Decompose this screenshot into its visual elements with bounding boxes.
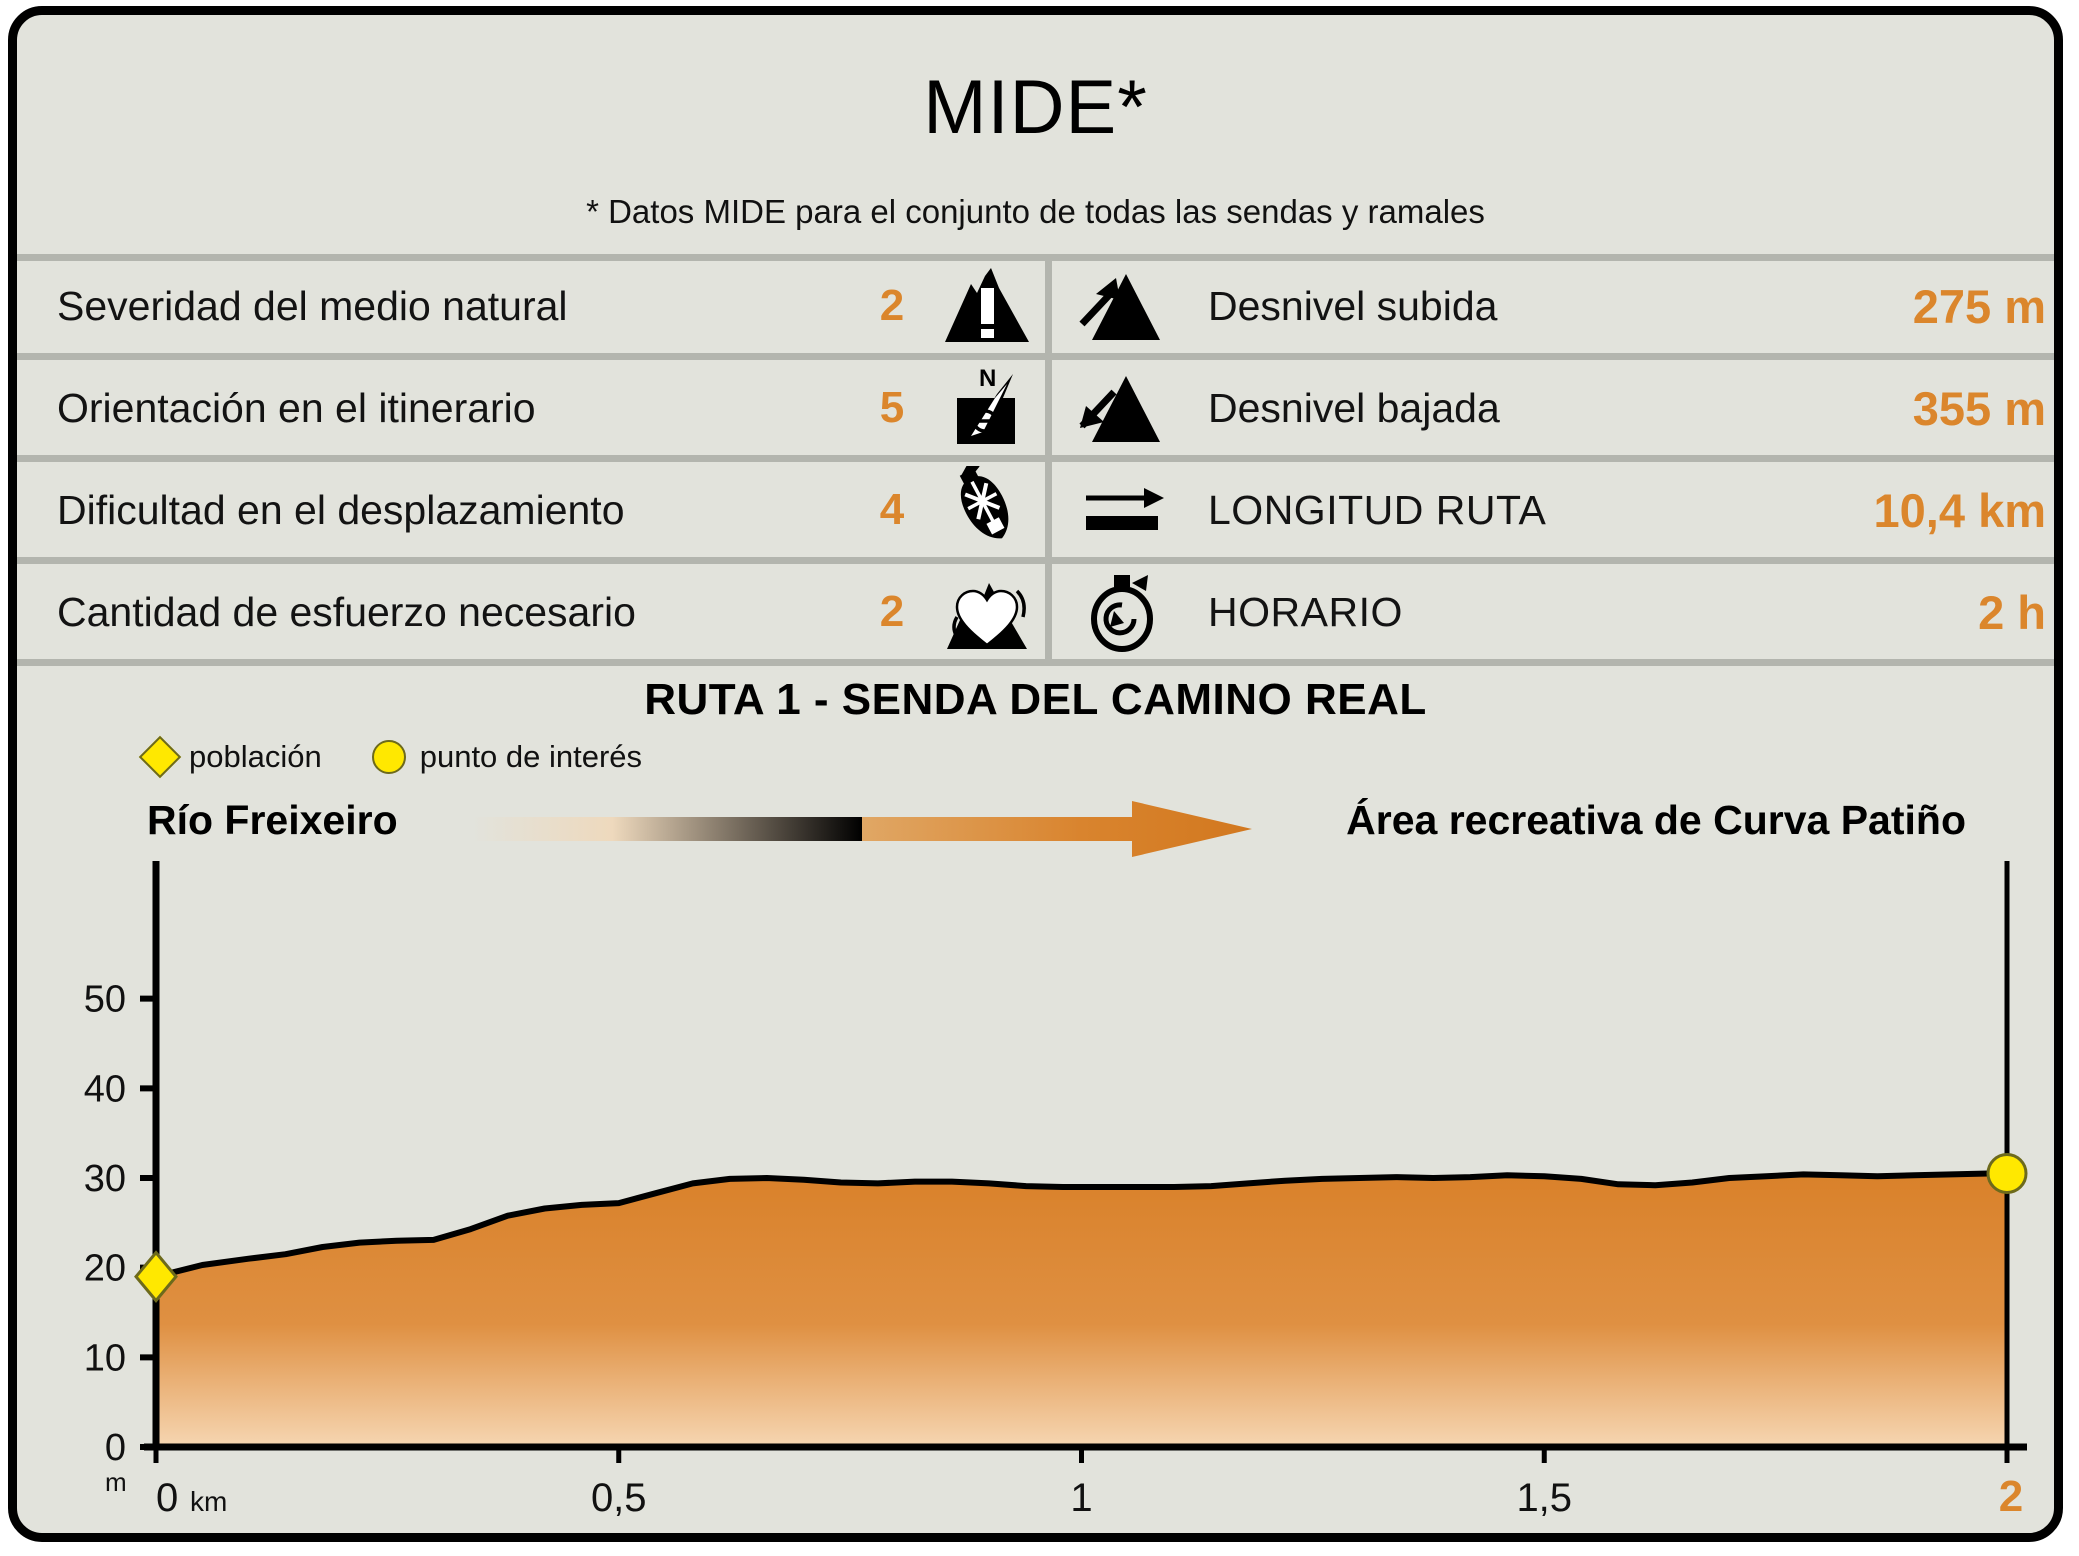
- card-header: MIDE* * Datos MIDE para el conjunto de t…: [17, 15, 2054, 254]
- boot-sole-icon: [935, 466, 1039, 554]
- mide-value: 2 h: [1978, 585, 2060, 640]
- mide-row-desnivel-subida: Desnivel subida 275 m: [1060, 258, 2060, 354]
- mide-row-dificultad: Dificultad en el desplazamiento 4: [31, 462, 1039, 558]
- heart-mountain-icon: [935, 571, 1039, 653]
- route-endpoints: Río Freixeiro Área recreativa de Curva P…: [17, 797, 2054, 861]
- route-start-label: Río Freixeiro: [147, 797, 398, 844]
- mide-label: LONGITUD RUTA: [1188, 487, 1874, 534]
- mide-row-severidad: Severidad del medio natural 2: [31, 258, 1039, 354]
- mide-row-horario: HORARIO 2 h: [1060, 564, 2060, 660]
- mide-label: Severidad del medio natural: [31, 283, 849, 330]
- svg-text:20: 20: [84, 1248, 126, 1290]
- distance-arrow-icon: [1060, 480, 1188, 540]
- svg-text:km: km: [190, 1486, 227, 1517]
- grid-divider: [17, 557, 2054, 564]
- mide-data-grid: Severidad del medio natural 2 Orientació…: [17, 254, 2054, 666]
- svg-text:10: 10: [84, 1337, 126, 1379]
- page-subtitle: * Datos MIDE para el conjunto de todas l…: [17, 193, 2054, 231]
- mide-value: 2: [849, 587, 935, 637]
- mide-row-longitud: LONGITUD RUTA 10,4 km: [1060, 462, 2060, 558]
- mide-value: 5: [849, 383, 935, 433]
- svg-text:1: 1: [1070, 1476, 1092, 1520]
- chart-legend: población punto de interés: [145, 739, 642, 775]
- svg-text:0: 0: [156, 1476, 178, 1520]
- compass-icon: N: [935, 364, 1039, 452]
- mountain-down-icon: [1060, 370, 1188, 446]
- mide-value: 355 m: [1913, 381, 2060, 436]
- mide-value: 10,4 km: [1874, 483, 2060, 538]
- svg-text:0,5: 0,5: [591, 1476, 647, 1520]
- svg-text:40: 40: [84, 1068, 126, 1110]
- diamond-marker-icon: [139, 736, 181, 778]
- page-title: MIDE*: [17, 67, 2054, 149]
- mide-value: 4: [849, 485, 935, 535]
- mide-value: 275 m: [1913, 279, 2060, 334]
- mide-label: HORARIO: [1188, 589, 1978, 636]
- route-end-label: Área recreativa de Curva Patiño: [1346, 797, 1966, 844]
- svg-text:30: 30: [84, 1158, 126, 1200]
- mide-info-card: MIDE* * Datos MIDE para el conjunto de t…: [8, 6, 2063, 1542]
- mide-label: Orientación en el itinerario: [31, 385, 849, 432]
- mide-row-orientacion: Orientación en el itinerario 5 N: [31, 360, 1039, 456]
- mide-label: Desnivel bajada: [1188, 385, 1913, 432]
- legend-label-punto-interes: punto de interés: [420, 739, 642, 775]
- mide-label: Dificultad en el desplazamiento: [31, 487, 849, 534]
- plot-area: 010203040500km0,511,52: [84, 861, 2027, 1521]
- svg-text:N: N: [979, 365, 996, 392]
- legend-label-poblacion: población: [189, 739, 322, 775]
- grid-divider: [17, 455, 2054, 462]
- route-title: RUTA 1 - SENDA DEL CAMINO REAL: [17, 675, 2054, 725]
- mide-row-esfuerzo: Cantidad de esfuerzo necesario 2: [31, 564, 1039, 660]
- grid-divider: [17, 659, 2054, 666]
- mide-label: Desnivel subida: [1188, 283, 1913, 330]
- circle-marker-icon: [372, 740, 406, 774]
- grid-divider: [17, 353, 2054, 360]
- mountain-up-icon: [1060, 268, 1188, 344]
- mide-label: Cantidad de esfuerzo necesario: [31, 589, 849, 636]
- elevation-profile-chart: 010203040500km0,511,52: [17, 861, 2054, 1542]
- mide-value: 2: [849, 281, 935, 331]
- y-axis-unit-label: m: [105, 1467, 127, 1498]
- grid-column-divider: [1045, 254, 1052, 666]
- mide-row-desnivel-bajada: Desnivel bajada 355 m: [1060, 360, 2060, 456]
- svg-text:0: 0: [105, 1427, 126, 1469]
- svg-text:2: 2: [1999, 1472, 2023, 1521]
- direction-arrow-icon: [472, 801, 1252, 857]
- warning-mountain-icon: [935, 266, 1039, 346]
- svg-text:50: 50: [84, 979, 126, 1021]
- svg-text:1,5: 1,5: [1516, 1476, 1572, 1520]
- stopwatch-icon: [1060, 569, 1188, 655]
